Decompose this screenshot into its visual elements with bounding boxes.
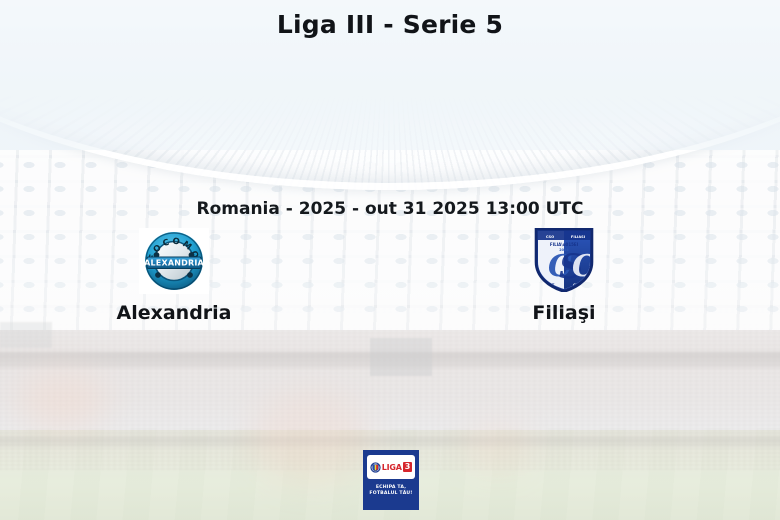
away-crest-wrap: CSO FILIASI FILIA\u015EI 2014 C S O SPOR… bbox=[464, 228, 664, 294]
filiasi-crest-icon: CSO FILIASI FILIA\u015EI 2014 C S O SPOR… bbox=[533, 228, 595, 294]
match-meta: Romania - 2025 - out 31 2025 13:00 UTC bbox=[0, 199, 780, 219]
league-tagline: ECHIPA TA, FOTBALUL TĂU! bbox=[369, 485, 412, 498]
svg-text:FILIASI: FILIASI bbox=[571, 235, 585, 239]
league-tagline-line2: FOTBALUL TĂU! bbox=[369, 491, 412, 497]
league-word: LIGA bbox=[382, 463, 402, 472]
home-team-name: Alexandria bbox=[74, 302, 274, 324]
away-team: CSO FILIASI FILIA\u015EI 2014 C S O SPOR… bbox=[464, 228, 664, 324]
frf-shield-icon bbox=[370, 462, 381, 473]
liga-3-logo-icon: LIGA 3 ECHIPA TA, FOTBALUL TĂU! bbox=[363, 450, 419, 510]
alexandria-crest-icon: FOCOMO ALEXANDRIA bbox=[139, 228, 209, 294]
svg-text:CSO: CSO bbox=[546, 235, 554, 239]
home-team: FOCOMO ALEXANDRIA Alexandria bbox=[74, 228, 274, 324]
svg-text:ALEXANDRIA: ALEXANDRIA bbox=[144, 259, 204, 268]
away-team-name: Filiaşi bbox=[464, 302, 664, 324]
home-crest-wrap: FOCOMO ALEXANDRIA bbox=[74, 228, 274, 294]
league-number: 3 bbox=[403, 462, 413, 472]
league-logo-panel: LIGA 3 bbox=[367, 455, 415, 479]
page-title: Liga III - Serie 5 bbox=[0, 10, 780, 39]
